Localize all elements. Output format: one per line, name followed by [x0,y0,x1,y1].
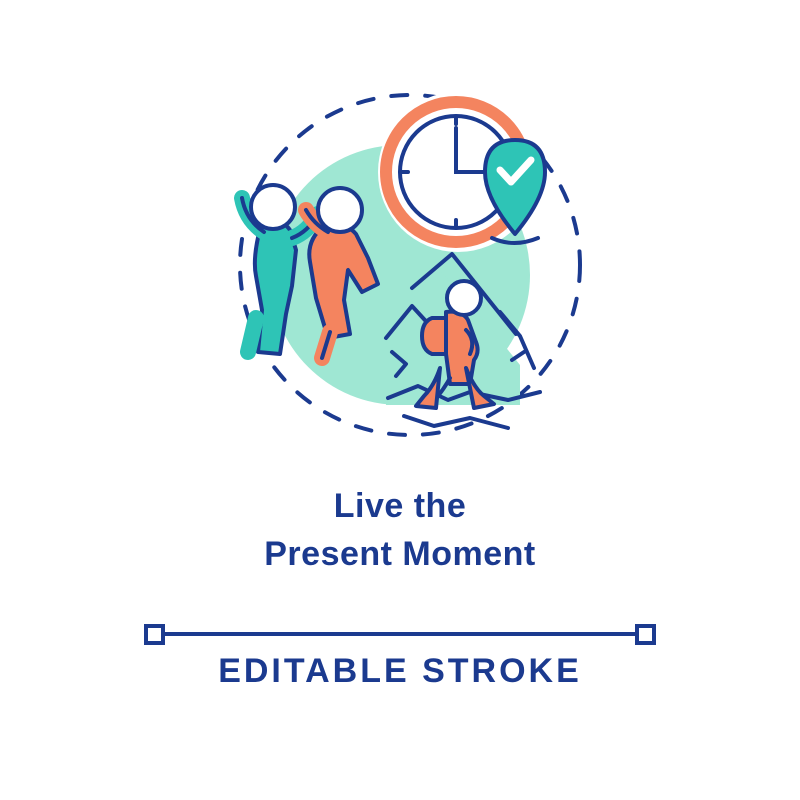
divider-left-handle [146,626,163,643]
concept-title: Live the Present Moment [0,482,800,578]
title-line-1: Live the [0,482,800,530]
divider [0,614,800,654]
divider-right-handle [637,626,654,643]
editable-stroke-label: EDITABLE STROKE [0,652,800,691]
title-line-2: Present Moment [0,530,800,578]
illustration [0,0,800,480]
concept-icon-canvas: Live the Present Moment EDITABLE STROKE [0,0,800,800]
